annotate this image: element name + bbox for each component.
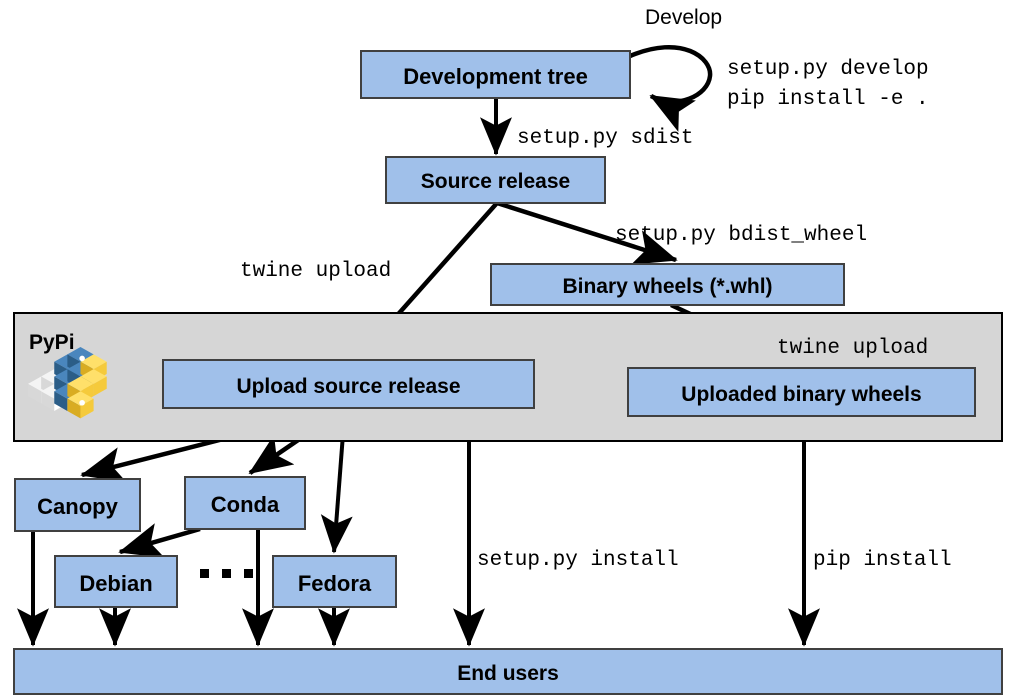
ellipsis-dots <box>200 569 253 578</box>
node-canopy[interactable]: Canopy <box>15 479 140 531</box>
diagram-canvas: PyPi Development tree Source release Bin… <box>0 0 1009 698</box>
twine-upload-wheels-label: twine upload <box>777 337 928 360</box>
node-layer: PyPi Development tree Source release Bin… <box>0 0 1009 698</box>
node-end-users[interactable]: End users <box>14 649 1002 694</box>
pip-install-label: pip install <box>813 549 952 572</box>
node-fedora[interactable]: Fedora <box>273 556 396 607</box>
node-debian-label: Debian <box>79 571 152 596</box>
node-upload-source-release-label: Upload source release <box>236 375 460 398</box>
node-canopy-label: Canopy <box>37 494 118 519</box>
node-development-tree-label: Development tree <box>403 64 588 89</box>
node-uploaded-binary-wheels[interactable]: Uploaded binary wheels <box>628 368 975 416</box>
node-upload-source-release[interactable]: Upload source release <box>163 360 534 408</box>
node-source-release-label: Source release <box>421 170 570 193</box>
node-conda[interactable]: Conda <box>185 477 305 529</box>
node-development-tree[interactable]: Development tree <box>361 51 630 98</box>
node-fedora-label: Fedora <box>298 571 372 596</box>
node-uploaded-binary-wheels-label: Uploaded binary wheels <box>681 383 921 406</box>
node-end-users-label: End users <box>457 662 559 685</box>
setup-py-install-label: setup.py install <box>477 549 679 572</box>
pypi-group-label: PyPi <box>29 331 75 354</box>
node-debian[interactable]: Debian <box>55 556 177 607</box>
pip-install-editable-label: pip install -e . <box>727 88 929 111</box>
node-binary-wheels-label: Binary wheels (*.whl) <box>562 275 772 298</box>
twine-upload-source-label: twine upload <box>240 260 391 283</box>
setup-py-develop-label: setup.py develop <box>727 58 929 81</box>
setup-py-bdist-wheel-label: setup.py bdist_wheel <box>615 224 867 247</box>
node-binary-wheels[interactable]: Binary wheels (*.whl) <box>491 264 844 305</box>
node-conda-label: Conda <box>211 492 280 517</box>
node-source-release[interactable]: Source release <box>386 157 605 203</box>
setup-py-sdist-label: setup.py sdist <box>517 127 693 150</box>
develop-loop-label: Develop <box>645 6 722 29</box>
